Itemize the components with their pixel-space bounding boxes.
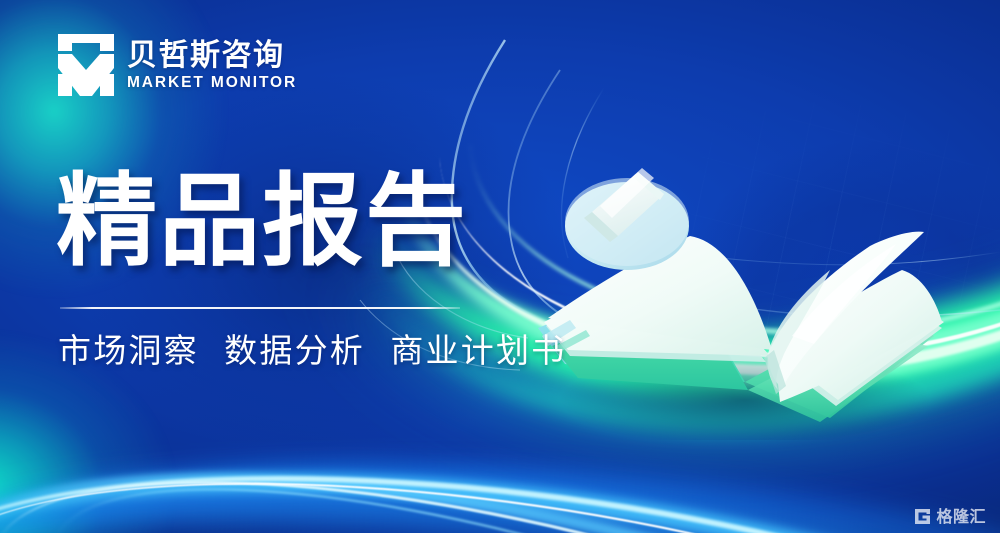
market-monitor-m-logo-icon — [58, 34, 114, 96]
report-banner: 贝哲斯咨询 MARKET MONITOR 精品报告 市场洞察 数据分析 商业计划… — [0, 0, 1000, 533]
brand-logo: 贝哲斯咨询 MARKET MONITOR — [58, 34, 297, 96]
watermark-text: 格隆汇 — [936, 509, 986, 525]
page-subtitle: 市场洞察 数据分析 商业计划书 — [58, 330, 566, 373]
brand-name-cn: 贝哲斯咨询 — [127, 41, 297, 71]
title-divider — [60, 307, 460, 309]
page-title: 精品报告 — [56, 168, 468, 275]
brand-name-en: MARKET MONITOR — [127, 75, 297, 91]
bookmark-disc-icon — [565, 168, 689, 270]
watermark: 格隆汇 — [914, 508, 986, 525]
gelonghui-g-icon — [914, 508, 931, 525]
open-book-illustration — [530, 150, 950, 440]
